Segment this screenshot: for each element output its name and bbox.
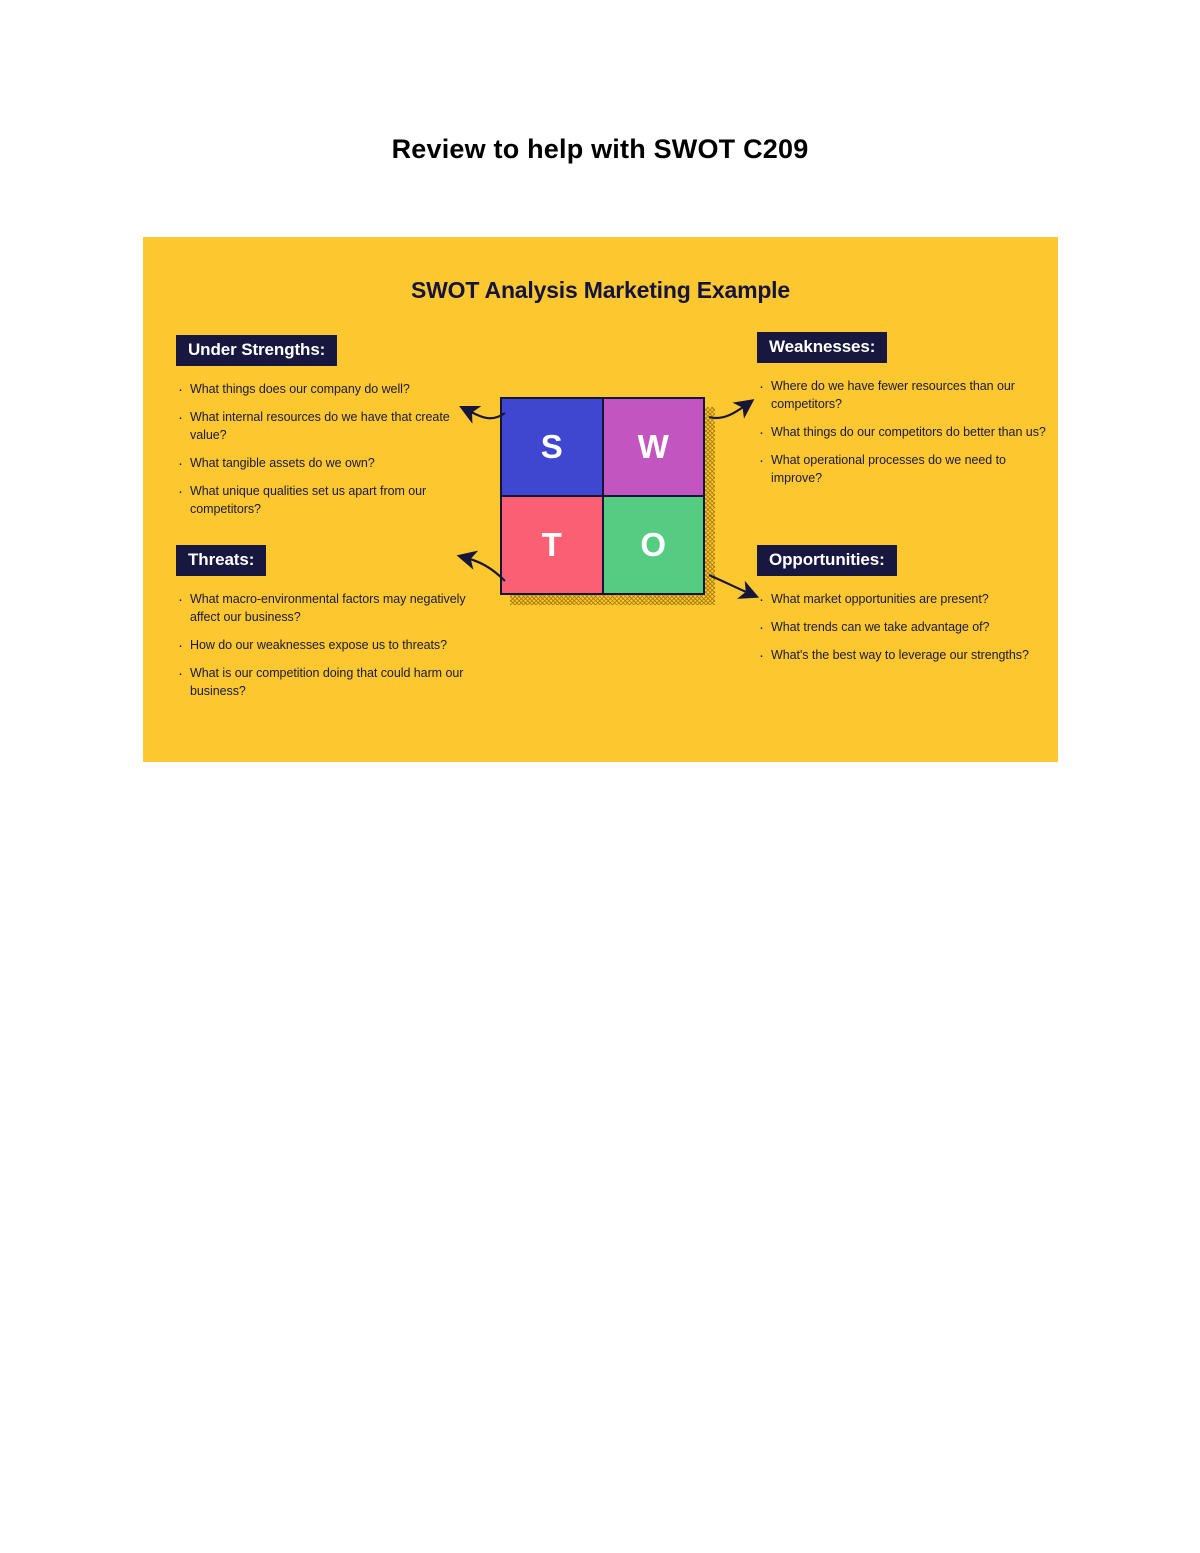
list-item: How do our weaknesses expose us to threa… [176, 636, 476, 654]
section-weaknesses: Weaknesses: Where do we have fewer resou… [757, 332, 1057, 497]
section-label-threats: Threats: [176, 545, 266, 576]
section-strengths: Under Strengths: What things does our co… [176, 335, 476, 529]
list-item: What things do our competitors do better… [757, 423, 1057, 441]
section-label-strengths: Under Strengths: [176, 335, 337, 366]
list-item: What macro-environmental factors may neg… [176, 590, 476, 626]
section-label-weaknesses: Weaknesses: [757, 332, 887, 363]
list-item: Where do we have fewer resources than ou… [757, 377, 1057, 413]
arrow-to-weaknesses [709, 403, 749, 418]
quadrant-weaknesses: W [604, 399, 704, 495]
swot-matrix: S W T O [500, 397, 712, 602]
section-opportunities: Opportunities: What market opportunities… [757, 545, 1057, 674]
section-threats: Threats: What macro-environmental factor… [176, 545, 476, 710]
list-item: What market opportunities are present? [757, 590, 1057, 608]
list-item: What trends can we take advantage of? [757, 618, 1057, 636]
page-title: Review to help with SWOT C209 [0, 134, 1200, 165]
bullet-list-opportunities: What market opportunities are present? W… [757, 590, 1057, 664]
quadrant-threats: T [502, 497, 602, 593]
bullet-list-threats: What macro-environmental factors may neg… [176, 590, 476, 701]
list-item: What things does our company do well? [176, 380, 476, 398]
arrow-to-opportunities [709, 575, 753, 595]
swot-matrix-grid: S W T O [500, 397, 705, 595]
list-item: What operational processes do we need to… [757, 451, 1057, 487]
list-item: What unique qualities set us apart from … [176, 482, 476, 518]
list-item: What's the best way to leverage our stre… [757, 646, 1057, 664]
bullet-list-weaknesses: Where do we have fewer resources than ou… [757, 377, 1057, 488]
quadrant-strengths: S [502, 399, 602, 495]
bullet-list-strengths: What things does our company do well? Wh… [176, 380, 476, 519]
quadrant-opportunities: O [604, 497, 704, 593]
list-item: What internal resources do we have that … [176, 408, 476, 444]
poster-title: SWOT Analysis Marketing Example [143, 277, 1058, 304]
swot-poster: SWOT Analysis Marketing Example Under St… [143, 237, 1058, 762]
list-item: What is our competition doing that could… [176, 664, 476, 700]
section-label-opportunities: Opportunities: [757, 545, 897, 576]
list-item: What tangible assets do we own? [176, 454, 476, 472]
